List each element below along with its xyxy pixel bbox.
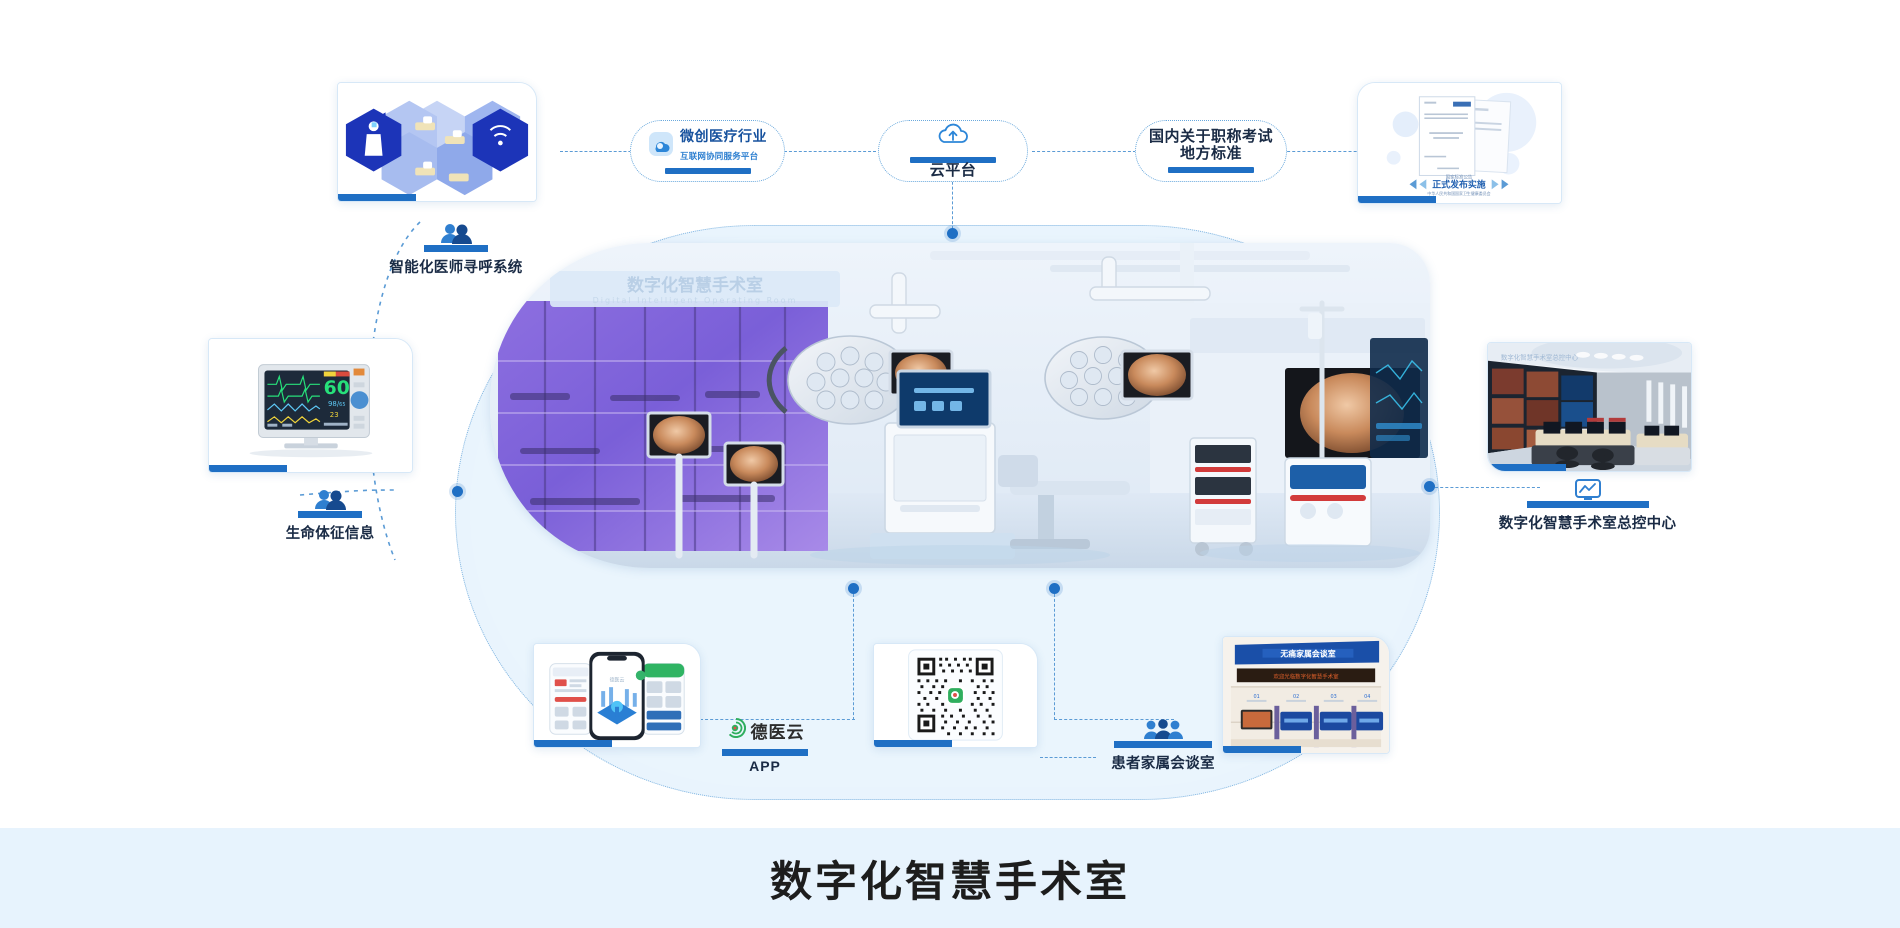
connector-bottom-right-vertical bbox=[1054, 594, 1055, 720]
pill-weichuang[interactable]: 微创医疗行业 互联网协同服务平台 bbox=[630, 120, 785, 182]
footer-banner: 数字化智慧手术室 bbox=[0, 828, 1900, 928]
app-brand-name: 德医云 bbox=[751, 718, 805, 743]
node-accent-bar bbox=[1527, 501, 1649, 508]
card-accent-bar bbox=[1488, 464, 1566, 471]
app-caption: APP bbox=[700, 758, 830, 774]
svg-text:02: 02 bbox=[1293, 694, 1299, 700]
app-label-block[interactable]: 德医云 APP bbox=[700, 718, 830, 774]
svg-text:03: 03 bbox=[1331, 694, 1337, 700]
node-pager[interactable]: 智能化医师寻呼系统 bbox=[351, 222, 561, 277]
connector-dot-bottom-right bbox=[1049, 583, 1060, 594]
card-phones[interactable]: 德医云 bbox=[533, 643, 701, 748]
node-accent-bar bbox=[424, 245, 488, 252]
cloud-brand-icon bbox=[648, 131, 674, 162]
pill-brand-line2: 互联网协同服务平台 bbox=[680, 151, 758, 161]
pill-cloud-label: 云平台 bbox=[910, 163, 996, 180]
cloud-upload-icon bbox=[934, 135, 972, 152]
node-vitals[interactable]: 生命体征信息 bbox=[235, 488, 425, 543]
monitor-reading: 60 bbox=[324, 378, 350, 399]
svg-text:欢迎光临数字化智慧手术室: 欢迎光临数字化智慧手术室 bbox=[1273, 672, 1339, 680]
node-family-label: 患者家属会谈室 bbox=[1068, 752, 1258, 773]
card-pager[interactable] bbox=[337, 82, 537, 202]
node-accent-bar bbox=[298, 511, 362, 518]
card-accent-bar bbox=[1358, 196, 1436, 203]
deyiyun-logo-icon bbox=[726, 718, 746, 743]
app-accent-bar bbox=[722, 749, 808, 756]
node-family[interactable]: 患者家属会谈室 bbox=[1068, 718, 1258, 773]
card-accent-bar bbox=[874, 740, 952, 747]
node-pager-label: 智能化医师寻呼系统 bbox=[351, 256, 561, 277]
svg-text:23: 23 bbox=[330, 411, 339, 419]
pill-brand-line1: 微创医疗行业 bbox=[680, 128, 767, 144]
page-title: 数字化智慧手术室 bbox=[770, 848, 1130, 909]
connector-dot-bottom-left bbox=[848, 583, 859, 594]
connector-dot-left bbox=[452, 486, 463, 497]
pill-standard[interactable]: 国内关于职称考试 地方标准 bbox=[1135, 120, 1287, 182]
connector-bottom-left-vertical bbox=[853, 594, 854, 720]
two-people-icon bbox=[235, 488, 425, 510]
connector-pill-chain-2 bbox=[1032, 151, 1136, 152]
node-control[interactable]: 数字化智慧手术室总控中心 bbox=[1480, 478, 1695, 533]
family-banner-text: 无痛家属会谈室 bbox=[1279, 649, 1335, 659]
monitor-chart-icon bbox=[1480, 478, 1695, 500]
control-wall-text: 数字化智慧手术室总控中心 bbox=[1501, 353, 1579, 362]
node-control-label: 数字化智慧手术室总控中心 bbox=[1480, 512, 1695, 533]
card-docs[interactable]: 国家标准公告 正式发布实施 中华人民共和国国家卫生健康委员会 bbox=[1357, 82, 1562, 204]
connector-dot-right bbox=[1424, 481, 1435, 492]
node-vitals-label: 生命体征信息 bbox=[235, 522, 425, 543]
card-control[interactable]: 数字化智慧手术室总控中心 bbox=[1487, 342, 1692, 472]
pill-standard-line1: 国内关于职称考试 bbox=[1149, 129, 1273, 146]
card-accent-bar bbox=[209, 465, 287, 472]
card-qr[interactable] bbox=[873, 643, 1038, 748]
docs-banner-text: 正式发布实施 bbox=[1432, 178, 1486, 190]
svg-text:01: 01 bbox=[1253, 694, 1259, 700]
pill-cloud[interactable]: 云平台 bbox=[878, 120, 1028, 182]
svg-text:德医云: 德医云 bbox=[610, 676, 625, 683]
svg-text:04: 04 bbox=[1364, 694, 1370, 700]
connector-dot-cloud bbox=[947, 228, 958, 239]
pill-underline bbox=[1168, 167, 1254, 173]
two-people-icon bbox=[351, 222, 561, 244]
svg-text:98/65: 98/65 bbox=[328, 400, 345, 408]
card-accent-bar bbox=[338, 194, 416, 201]
infographic-canvas: 数字化智慧手术室 Digital Intelligent Operating R… bbox=[0, 0, 1900, 928]
node-accent-bar bbox=[1114, 741, 1212, 748]
svg-text:中华人民共和国国家卫生健康委员会: 中华人民共和国国家卫生健康委员会 bbox=[1427, 191, 1490, 196]
card-monitor[interactable]: 60 98/65 23 bbox=[208, 338, 413, 473]
connector-pill-chain-1 bbox=[784, 151, 876, 152]
three-people-icon bbox=[1068, 718, 1258, 740]
pill-underline bbox=[665, 168, 751, 174]
card-accent-bar bbox=[534, 740, 612, 747]
pill-standard-line2: 地方标准 bbox=[1149, 146, 1273, 163]
